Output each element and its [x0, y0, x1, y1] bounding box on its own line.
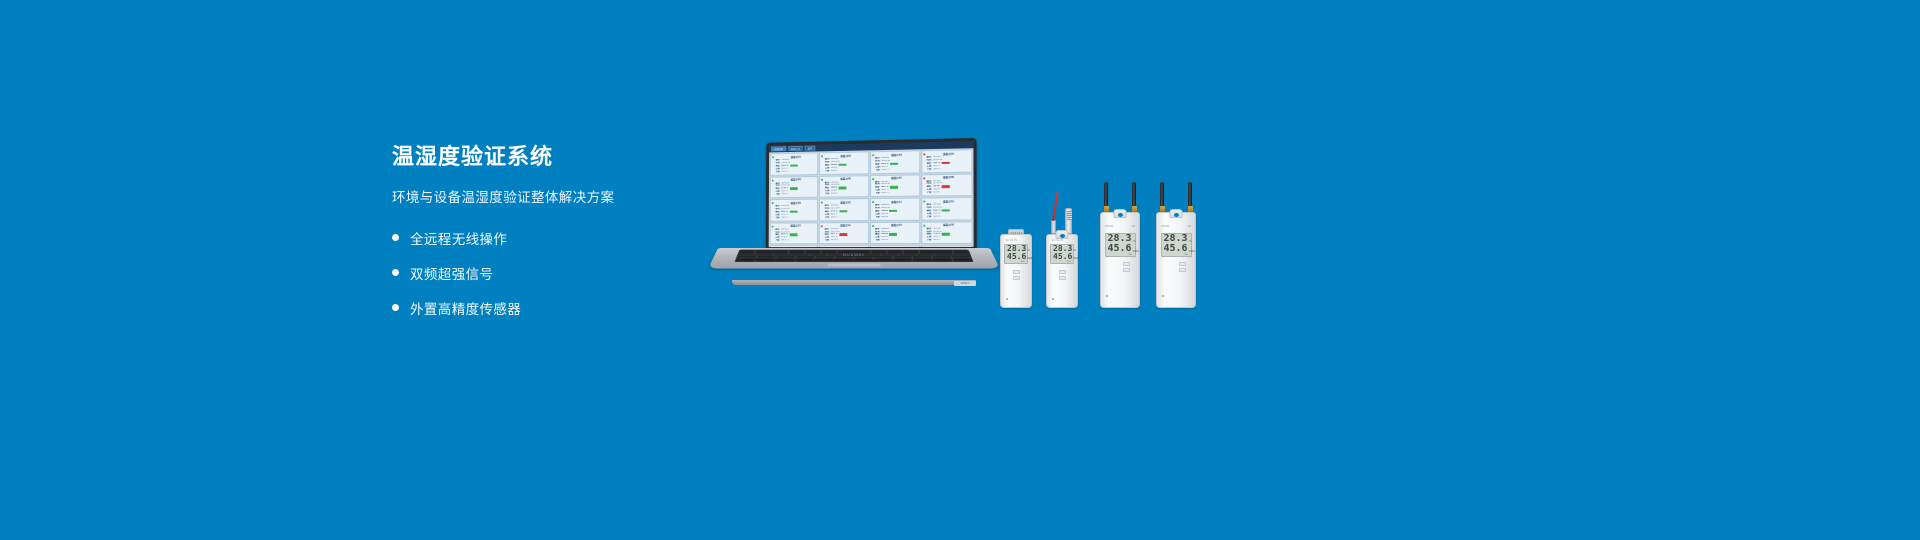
device-button-down[interactable]: [1123, 268, 1130, 272]
card-field-value: -20.0℃: [881, 169, 889, 172]
device-brand-label: ENGIN: [1006, 238, 1018, 242]
keyboard-key: [953, 260, 973, 262]
sensor-device-group: ENGIN 28.3 ℃ 45.6 %RH REC: [1000, 178, 1240, 308]
card-field-value: -20.0℃: [781, 193, 789, 196]
keyboard-key: [756, 260, 776, 262]
card-value-pill: [839, 234, 847, 236]
card-field-row: 下限:-20.0℃: [775, 170, 816, 174]
sensor-card[interactable]: 温度计17编号:SN-017时间:12:05:38温度:28.6℃上限:40.0…: [770, 245, 819, 247]
lcd-humidity-line: 45.6 %RH: [1053, 253, 1071, 261]
card-field-value: -20.0℃: [933, 168, 941, 171]
card-value-pill: [942, 233, 950, 235]
card-value-pill: [790, 187, 798, 189]
card-field-key: 下限:: [875, 169, 880, 172]
card-field-value: 10.0%: [831, 193, 837, 196]
lcd-humidity-line: 45.6 %RH: [1108, 244, 1133, 254]
app-tab[interactable]: 报警: [805, 146, 815, 151]
keyboard-key: [776, 260, 796, 262]
card-field-value: -20.0℃: [781, 170, 789, 173]
lcd-humidity-value: 45.6: [1164, 244, 1188, 254]
bullet-dot-icon: [392, 234, 399, 241]
device-vented-logger: ENGIN 28.3 ℃ 45.6 %RH REC: [1000, 234, 1032, 308]
feature-list: 全远程无线操作双频超强信号外置高精度传感器: [392, 225, 722, 321]
card-field-row: 下限:10.0%: [875, 215, 918, 218]
card-status-dot-icon: [821, 202, 823, 204]
card-status-dot-icon: [872, 201, 874, 203]
card-status-dot-icon: [772, 202, 774, 204]
lcd-humidity-line: 45.6 %RH: [1164, 244, 1189, 254]
laptop-front-edge: [732, 280, 976, 285]
device-brand-label: ENGIN: [1161, 225, 1169, 228]
card-status-dot-icon: [772, 179, 774, 181]
device-label-row: ENGIN H8: [1157, 225, 1195, 228]
card-field-value: 10.0%: [831, 169, 837, 172]
app-tab[interactable]: 设备管理: [771, 146, 786, 151]
card-value-pill: [890, 186, 898, 188]
laptop-illustration: 设备管理数据记录报警 温度计01编号:SN-001时间:12:05:30温度:2…: [718, 140, 990, 300]
device-dual-antenna-b: ENGIN H8 28.3 ℃ 45.6 %RH REC: [1156, 212, 1196, 308]
status-led-icon: [1052, 298, 1054, 300]
card-field-row: 下限:-20.0℃: [824, 239, 866, 242]
card-value-pill: [941, 185, 949, 188]
keyboard-key: [736, 260, 756, 262]
card-field-key: 下限:: [824, 239, 829, 242]
card-field-key: 下限:: [927, 168, 932, 171]
device-lcd-display: 28.3 ℃ 45.6 %RH REC: [1105, 233, 1136, 257]
sensor-card[interactable]: 温度计10编号:SN-010时间:12:05:34温度:27.6℃上限:40.0…: [819, 198, 868, 221]
laptop-lid: 设备管理数据记录报警 温度计01编号:SN-001时间:12:05:30温度:2…: [766, 138, 977, 252]
card-value-pill: [789, 234, 797, 236]
card-field-key: 下限:: [825, 216, 830, 219]
card-status-dot-icon: [872, 154, 874, 156]
lcd-temperature-unit: ℃: [1027, 249, 1030, 252]
card-field-key: 下限:: [775, 239, 780, 242]
bullet-dot-icon: [392, 269, 399, 276]
sensor-card-grid: 温度计01编号:SN-001时间:12:05:30温度:28.3℃上限:40.0…: [769, 148, 974, 247]
device-label-row: ENGIN H8: [1101, 225, 1139, 228]
card-field-value: 10.0%: [881, 216, 888, 219]
card-field-row: 下限:-20.0℃: [875, 168, 918, 172]
sensor-card[interactable]: 温度计09编号:SN-009时间:12:05:34温度:28.0℃上限:40.0…: [770, 199, 818, 222]
card-field-key: 下限:: [775, 170, 780, 173]
card-value-pill: [839, 163, 847, 166]
card-field-row: 下限:-20.0℃: [775, 216, 816, 219]
device-model-label: H8: [1132, 225, 1135, 228]
device-probe-logger: ENGIN 28.3 ℃ 45.6 %RH REC: [1046, 234, 1078, 308]
keyboard-key: [796, 260, 912, 262]
device-lcd-display: 28.3 ℃ 45.6 %RH REC: [1050, 244, 1074, 264]
card-field-value: -20.0℃: [933, 215, 941, 218]
lcd-status-text: REC: [1053, 261, 1071, 263]
laptop-screen: 设备管理数据记录报警 温度计01编号:SN-001时间:12:05:30温度:2…: [769, 141, 974, 247]
card-field-row: 下限:-20.0℃: [825, 216, 867, 219]
lcd-humidity-unit: %RH: [1189, 250, 1195, 253]
status-led-icon: [1006, 298, 1008, 300]
card-status-dot-icon: [821, 178, 823, 180]
card-value-pill: [839, 187, 847, 189]
card-status-dot-icon: [772, 225, 774, 227]
card-status-dot-icon: [772, 156, 774, 158]
keyboard-row: [736, 260, 973, 262]
hanging-hole-icon: [1114, 209, 1127, 218]
sensor-card[interactable]: 温度计04编号:SN-004时间:12:05:31温度:41.2℃上限:40.0…: [921, 149, 972, 173]
app-tab[interactable]: 数据记录: [788, 146, 803, 151]
lcd-humidity-value: 45.6: [1007, 253, 1026, 261]
device-dual-antenna-a: ENGIN H8 28.3 ℃ 45.6 %RH REC: [1100, 212, 1140, 308]
card-field-row: 下限:-20.0℃: [927, 239, 971, 242]
lcd-status-text: REC: [1164, 254, 1189, 256]
card-field-row: 下限:-20.0℃: [927, 167, 971, 171]
page-title: 温湿度验证系统: [392, 143, 722, 171]
device-button-up[interactable]: [1123, 262, 1130, 266]
card-field-row: 下限:-20.0℃: [775, 239, 816, 242]
card-value-pill: [889, 233, 897, 235]
sensor-card[interactable]: 温度计05编号:SN-005时间:12:05:32温度:27.9℃上限:40.0…: [770, 176, 818, 199]
device-brand-label: ENGIN: [1105, 225, 1113, 228]
card-status-dot-icon: [872, 178, 874, 180]
feature-label: 外置高精度传感器: [410, 298, 521, 318]
feature-item: 双频超强信号: [392, 260, 722, 286]
card-field-key: 下限:: [875, 239, 880, 242]
card-status-dot-icon: [923, 201, 925, 203]
sensor-card[interactable]: 温度计01编号:SN-001时间:12:05:30温度:28.3℃上限:40.0…: [770, 152, 818, 175]
device-button-up[interactable]: [1059, 270, 1066, 274]
card-value-pill: [790, 211, 798, 213]
status-led-icon: [1162, 295, 1164, 297]
device-button-down[interactable]: [1059, 276, 1066, 280]
card-value-pill: [889, 210, 897, 212]
card-field-row: 下限:10.0%: [927, 191, 971, 194]
device-button-down[interactable]: [1013, 276, 1020, 280]
sensor-card[interactable]: 温度计12编号:SN-012时间:12:05:35温度:28.2℃上限:40.0…: [921, 197, 973, 220]
card-value-pill: [790, 164, 798, 166]
keyboard-key: [933, 260, 953, 262]
card-field-row: 下限:10.0%: [875, 239, 918, 242]
sensor-card[interactable]: 温度计08编号:SN-008时间:12:05:33湿度:88.4%上限:85.0…: [921, 173, 972, 196]
card-status-dot-icon: [872, 225, 874, 227]
sensor-card[interactable]: 温度计19编号:SN-019时间:12:05:39温度:28.0℃上限:40.0…: [869, 245, 920, 247]
card-field-key: 下限:: [927, 192, 932, 195]
card-field-row: 下限:-20.0℃: [775, 193, 816, 196]
card-value-pill: [890, 163, 898, 166]
lcd-status-text: REC: [1108, 254, 1133, 256]
card-field-value: -20.0℃: [933, 239, 941, 242]
laptop-base: [708, 248, 1000, 268]
lcd-humidity-unit: %RH: [1073, 257, 1079, 260]
card-status-dot-icon: [821, 155, 823, 157]
bullet-dot-icon: [392, 304, 399, 311]
feature-label: 双频超强信号: [410, 263, 493, 283]
sensor-card[interactable]: 温度计14编号:SN-014时间:12:05:36温度:42.7℃上限:40.0…: [819, 222, 868, 245]
lcd-humidity-value: 45.6: [1108, 244, 1132, 254]
device-lcd-display: 28.3 ℃ 45.6 %RH REC: [1004, 244, 1028, 264]
lcd-humidity-unit: %RH: [1133, 250, 1139, 253]
lcd-humidity-value: 45.6: [1053, 253, 1072, 261]
feature-item: 外置高精度传感器: [392, 295, 722, 321]
card-status-dot-icon: [821, 225, 823, 227]
sensor-card[interactable]: 温度计06编号:SN-006时间:12:05:32湿度:46.0%上限:85.0…: [819, 175, 868, 198]
device-model-label: H8: [1188, 225, 1191, 228]
card-field-key: 下限:: [825, 193, 830, 196]
page-subtitle: 环境与设备温湿度验证整体解决方案: [392, 186, 722, 206]
sensor-card[interactable]: 温度计20编号:SN-020时间:12:05:39温度:27.7℃上限:40.0…: [921, 245, 973, 247]
card-field-key: 下限:: [825, 170, 830, 173]
sensor-card[interactable]: 温度计03编号:SN-003时间:12:05:31温度:28.1℃上限:40.0…: [870, 150, 920, 173]
card-value-pill: [942, 162, 950, 165]
status-led-icon: [1106, 295, 1108, 297]
card-status-dot-icon: [923, 177, 925, 179]
sensor-card[interactable]: 温度计11编号:SN-011时间:12:05:35湿度:44.8%上限:85.0…: [870, 198, 920, 221]
card-value-pill: [839, 210, 847, 212]
sensor-card[interactable]: 温度计13编号:SN-013时间:12:05:36温度:28.4℃上限:40.0…: [770, 222, 819, 244]
lcd-temperature-unit: ℃: [1189, 240, 1192, 243]
keyboard-key: [912, 260, 932, 262]
device-button-down[interactable]: [1179, 268, 1186, 272]
lcd-status-text: REC: [1007, 261, 1025, 263]
laptop-trackpad: [826, 263, 882, 267]
sensor-card[interactable]: 温度计07编号:SN-007时间:12:05:33温度:28.5℃上限:40.0…: [870, 174, 920, 197]
laptop-sticker: VERIFY: [954, 281, 976, 286]
card-field-value: -20.0℃: [831, 216, 839, 219]
card-status-dot-icon: [923, 153, 925, 155]
laptop-brand-label: HUAWEI: [843, 253, 864, 257]
sensor-card[interactable]: 温度计16编号:SN-016时间:12:05:37温度:27.8℃上限:40.0…: [921, 221, 973, 244]
device-button-up[interactable]: [1013, 270, 1020, 274]
lcd-humidity-line: 45.6 %RH: [1007, 253, 1025, 261]
device-button-up[interactable]: [1179, 262, 1186, 266]
sensor-card[interactable]: 温度计02编号:SN-002时间:12:05:30湿度:45.6%上限:85.0…: [819, 151, 868, 174]
device-lcd-display: 28.3 ℃ 45.6 %RH REC: [1161, 233, 1192, 257]
card-status-dot-icon: [923, 224, 925, 226]
card-field-value: -20.0℃: [781, 216, 789, 219]
card-field-row: 下限:-20.0℃: [875, 192, 918, 195]
card-field-row: 下限:10.0%: [825, 192, 867, 195]
hero-copy-block: 温湿度验证系统 环境与设备温湿度验证整体解决方案 全远程无线操作双频超强信号外置…: [392, 143, 722, 330]
card-field-key: 下限:: [875, 216, 880, 219]
card-field-key: 下限:: [927, 239, 932, 242]
card-value-pill: [942, 209, 950, 211]
card-field-value: 10.0%: [881, 239, 888, 242]
card-field-value: -20.0℃: [781, 239, 789, 242]
card-field-row: 下限:10.0%: [825, 169, 867, 173]
card-field-key: 下限:: [775, 193, 780, 196]
lcd-temperature-unit: ℃: [1073, 249, 1076, 252]
card-field-value: 10.0%: [933, 191, 940, 194]
feature-label: 全远程无线操作: [410, 228, 507, 248]
card-field-key: 下限:: [927, 215, 932, 218]
hanging-hole-icon: [1170, 209, 1183, 218]
sensor-card[interactable]: 温度计18编号:SN-018时间:12:05:38湿度:45.9%上限:85.0…: [819, 245, 869, 247]
lcd-humidity-unit: %RH: [1027, 257, 1033, 260]
sensor-card[interactable]: 温度计15编号:SN-015时间:12:05:37湿度:45.2%上限:85.0…: [870, 221, 920, 244]
card-field-value: -20.0℃: [881, 192, 889, 195]
card-field-row: 下限:-20.0℃: [927, 215, 971, 218]
feature-item: 全远程无线操作: [392, 225, 722, 251]
probe-cable-icon: [1052, 191, 1058, 221]
hanging-hole-icon: [1056, 230, 1069, 239]
card-field-value: -20.0℃: [831, 239, 839, 242]
card-field-key: 下限:: [775, 216, 780, 219]
card-field-key: 下限:: [875, 192, 880, 195]
lcd-temperature-unit: ℃: [1133, 240, 1136, 243]
